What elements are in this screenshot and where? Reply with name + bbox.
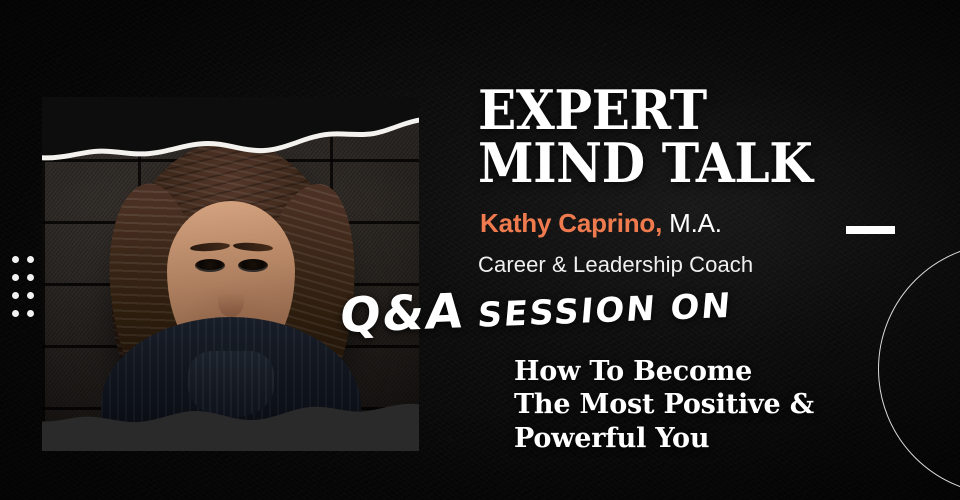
dot	[27, 256, 34, 263]
qa-session-on-label: SESSION ON	[462, 286, 733, 336]
banner-title: EXPERT MIND TALK	[478, 84, 812, 190]
speaker-credential: M.A.	[662, 208, 722, 238]
copy-block: EXPERT MIND TALK Kathy Caprino, M.A. Car…	[470, 0, 940, 500]
photo-gradient-overlay	[42, 97, 419, 451]
qa-label: Q&A	[338, 283, 467, 344]
dot	[27, 310, 34, 317]
dot-grid-decoration	[8, 250, 38, 322]
speaker-photo	[42, 97, 419, 451]
speaker-name-line: Kathy Caprino, M.A.	[480, 208, 722, 239]
session-headline: How To Become The Most Positive & Powerf…	[514, 355, 814, 455]
dot	[12, 310, 19, 317]
speaker-name: Kathy Caprino,	[480, 208, 662, 238]
dot	[12, 292, 19, 299]
dot	[12, 274, 19, 281]
dot	[27, 292, 34, 299]
dot	[27, 274, 34, 281]
dot	[12, 256, 19, 263]
banner-canvas: EXPERT MIND TALK Kathy Caprino, M.A. Car…	[0, 0, 960, 500]
